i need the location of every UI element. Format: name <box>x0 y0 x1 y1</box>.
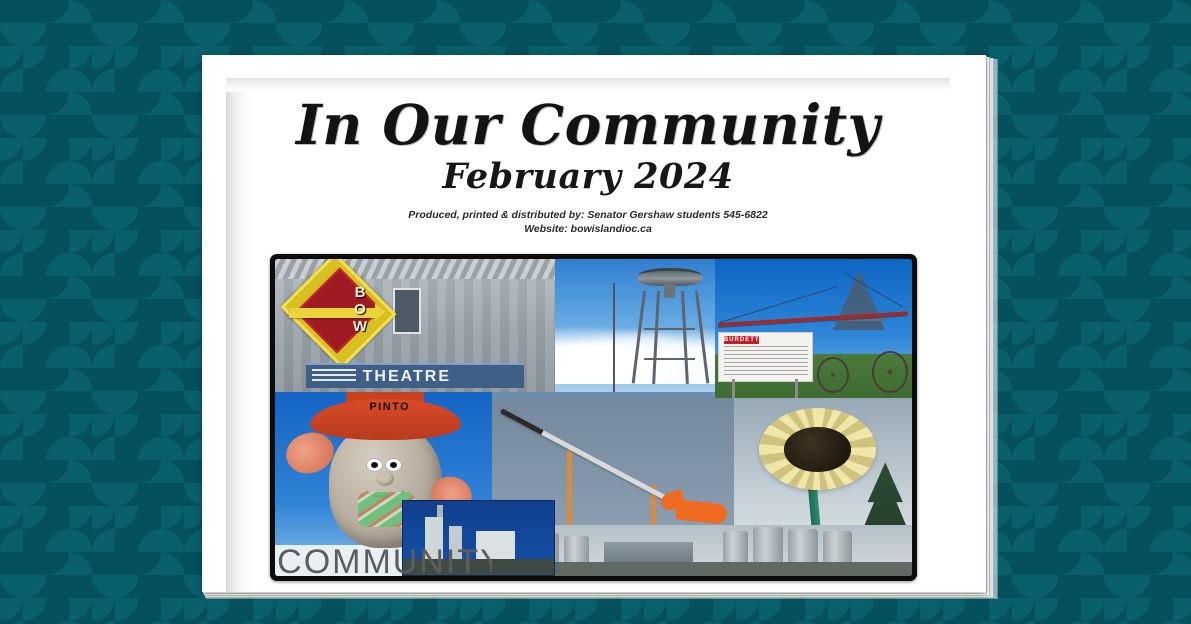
grain-silo <box>723 531 748 562</box>
plant-shed <box>604 542 693 563</box>
collage-overlay-text: COMMUNITY <box>277 543 489 576</box>
grain-silo <box>788 529 818 562</box>
burdett-sign-body-text <box>724 346 808 376</box>
water-tower-tank <box>638 268 702 285</box>
theatre-sign-text: BOW <box>328 275 367 344</box>
theatre-marquee: THEATRE <box>306 363 525 388</box>
irrigation-wheel <box>872 351 908 393</box>
grain-silo <box>564 536 589 562</box>
theatre-marquee-text: THEATRE <box>363 368 451 386</box>
water-tower-brace <box>644 328 695 330</box>
issue-date: February 2024 <box>226 158 950 197</box>
water-tower-neck <box>664 284 675 297</box>
pinto-hat-text: PINTO <box>340 401 440 413</box>
sunflower-disc <box>784 427 852 471</box>
theatre-window <box>393 288 421 333</box>
masthead: In Our Community February 2024 Produced,… <box>226 78 950 237</box>
grain-silo <box>753 527 783 563</box>
grain-silo <box>823 531 853 562</box>
photo-collage: BOW THEATRE <box>270 254 917 581</box>
marquee-stripes <box>312 369 356 384</box>
collage-canvas: BOW THEATRE <box>275 259 912 576</box>
credits-block: Produced, printed & distributed by: Sena… <box>226 209 950 237</box>
sign-post <box>732 379 735 399</box>
utility-pole <box>613 283 615 392</box>
collage-tile-water-tower <box>555 259 714 392</box>
website-line: Website: bowislandioc.ca <box>226 223 950 237</box>
irrigation-wheel <box>817 357 849 393</box>
collage-tile-burdett-sign: BURDETT <box>715 259 912 398</box>
collage-tile-pinto-mascot: PINTO COMMUNITY <box>275 392 492 576</box>
page-title: In Our Community <box>226 96 950 154</box>
credit-line: Produced, printed & distributed by: Sena… <box>226 209 950 223</box>
burdett-sign-title: BURDETT <box>724 336 759 343</box>
sign-post <box>795 379 798 399</box>
water-tower-brace <box>644 358 695 360</box>
burdett-sign-board: BURDETT <box>718 332 813 382</box>
irrigation-tower <box>833 270 885 330</box>
document-page[interactable]: In Our Community February 2024 Produced,… <box>226 78 950 592</box>
pinto-eye <box>385 458 402 472</box>
collage-tile-bow-theatre: BOW THEATRE <box>275 259 555 392</box>
document-viewer-frame[interactable]: In Our Community February 2024 Produced,… <box>202 55 986 592</box>
pinto-eye <box>366 458 383 472</box>
golf-support-post <box>567 450 572 526</box>
